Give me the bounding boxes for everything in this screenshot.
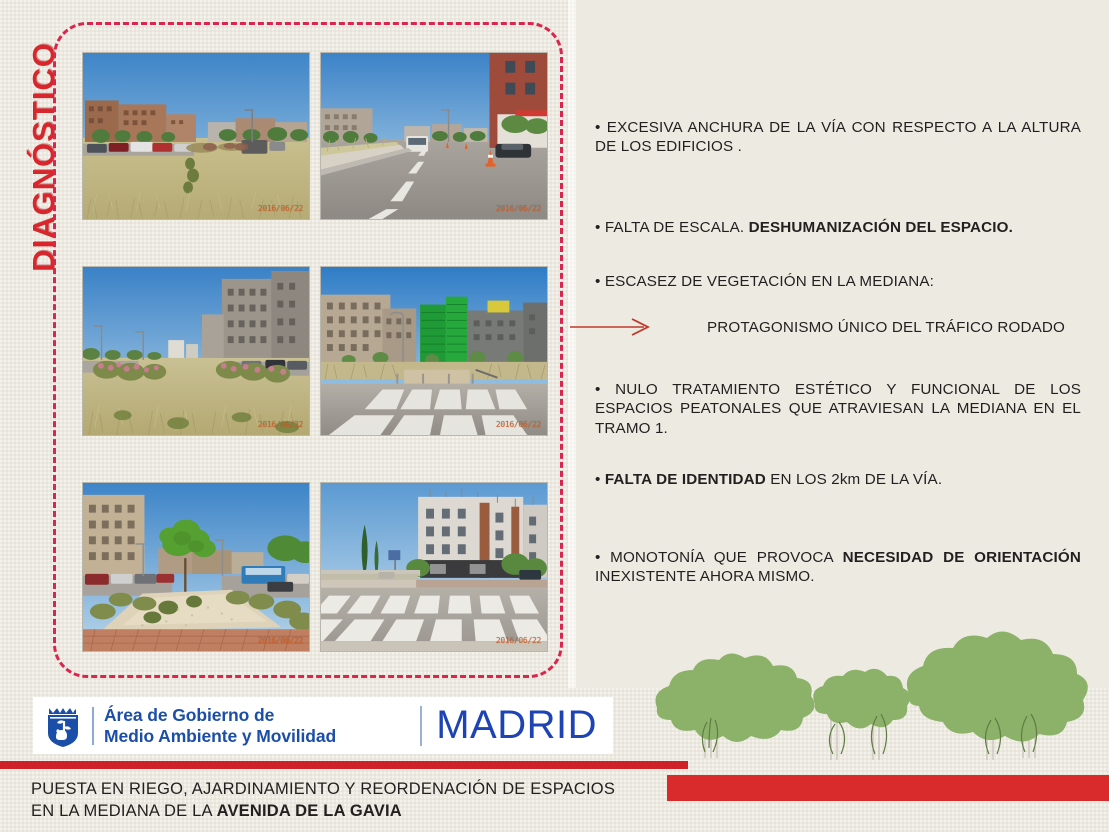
photo-wide-road-with-traffic-cone[interactable]: 2016/06/22 (320, 52, 548, 220)
bullet-monotony: • MONOTONÍA QUE PROVOCA NECESIDAD DE ORI… (595, 548, 1081, 587)
photo-timestamp: 2016/06/22 (258, 636, 303, 645)
footer-caption-line-2-emphasis: AVENIDA DE LA GAVIA (217, 802, 402, 820)
photo-median-with-dry-grass-and-buildings[interactable]: 2016/06/22 (82, 52, 310, 220)
photo-grid: 2016/06/22 (82, 52, 548, 652)
madrid-logo-bar: Área de Gobierno de Medio Ambiente y Mov… (33, 697, 613, 754)
logo-line-1: Área de Gobierno de (104, 705, 336, 726)
footer-caption-line-2: EN LA MEDIANA DE LA AVENIDA DE LA GAVIA (31, 800, 671, 822)
madrid-wordmark: MADRID (436, 703, 597, 748)
red-arrow-icon (570, 318, 654, 341)
photo-median-with-gravel-tree-and-bus[interactable]: 2016/06/22 (82, 482, 310, 652)
bullet-lack-of-identity-prefix: • (595, 471, 605, 488)
bullet-excessive-width: • EXCESIVA ANCHURA DE LA VÍA CON RESPECT… (595, 118, 1081, 157)
footer-caption-line-2-prefix: EN LA MEDIANA DE LA (31, 802, 217, 820)
logo-divider (92, 707, 94, 745)
bullet-scarce-vegetation: • ESCASEZ DE VEGETACIÓN EN LA MEDIANA: (595, 272, 1081, 291)
logo-line-2: Medio Ambiente y Movilidad (104, 726, 336, 747)
bullet-lack-of-identity: • FALTA DE IDENTIDAD EN LOS 2km DE LA VÍ… (595, 470, 1081, 489)
footer-caption: PUESTA EN RIEGO, AJARDINAMIENTO Y REORDE… (31, 778, 671, 823)
logo-divider-2 (420, 706, 422, 746)
madrid-coat-of-arms-icon (40, 703, 86, 749)
photo-timestamp: 2016/06/22 (496, 636, 541, 645)
bullet-lack-of-identity-suffix: EN LOS 2km DE LA VÍA. (766, 471, 942, 488)
photo-median-with-pink-shrubs-and-apartment-blocks[interactable]: 2016/06/22 (82, 266, 310, 436)
bullet-scarce-vegetation-sub: PROTAGONISMO ÚNICO DEL TRÁFICO RODADO (707, 318, 1087, 337)
bullet-monotony-suffix: INEXISTENTE AHORA MISMO. (595, 568, 815, 585)
bullet-lack-of-scale: • FALTA DE ESCALA. DESHUMANIZACIÓN DEL E… (595, 218, 1081, 237)
footer-thin-red-bar (0, 761, 688, 769)
photo-timestamp: 2016/06/22 (496, 420, 541, 429)
slide-canvas: DIAGNÓSTICO (0, 0, 1109, 832)
bullet-lack-of-identity-emphasis: FALTA DE IDENTIDAD (605, 471, 766, 488)
bullet-monotony-prefix: • MONOTONÍA QUE PROVOCA (595, 549, 843, 566)
bullet-lack-of-scale-text: • FALTA DE ESCALA. (595, 219, 749, 236)
photo-timestamp: 2016/06/22 (258, 204, 303, 213)
bullet-lack-of-scale-emphasis: DESHUMANIZACIÓN DEL ESPACIO. (749, 219, 1013, 236)
photo-crosswalk-with-green-facade-building[interactable]: 2016/06/22 (320, 266, 548, 436)
tree-silhouettes-graphic (625, 618, 1109, 783)
bullet-monotony-emphasis: NECESIDAD DE ORIENTACIÓN (843, 549, 1081, 566)
footer-thick-red-bar (667, 775, 1109, 801)
bullet-no-aesthetic-treatment: • NULO TRATAMIENTO ESTÉTICO Y FUNCIONAL … (595, 380, 1081, 438)
photo-timestamp: 2016/06/22 (258, 420, 303, 429)
logo-department-name: Área de Gobierno de Medio Ambiente y Mov… (104, 705, 336, 746)
photo-timestamp: 2016/06/22 (496, 204, 541, 213)
photo-crosswalk-with-cypress-and-white-building[interactable]: 2016/06/22 (320, 482, 548, 652)
right-column-light-band (568, 0, 576, 688)
footer-caption-line-1: PUESTA EN RIEGO, AJARDINAMIENTO Y REORDE… (31, 778, 671, 800)
